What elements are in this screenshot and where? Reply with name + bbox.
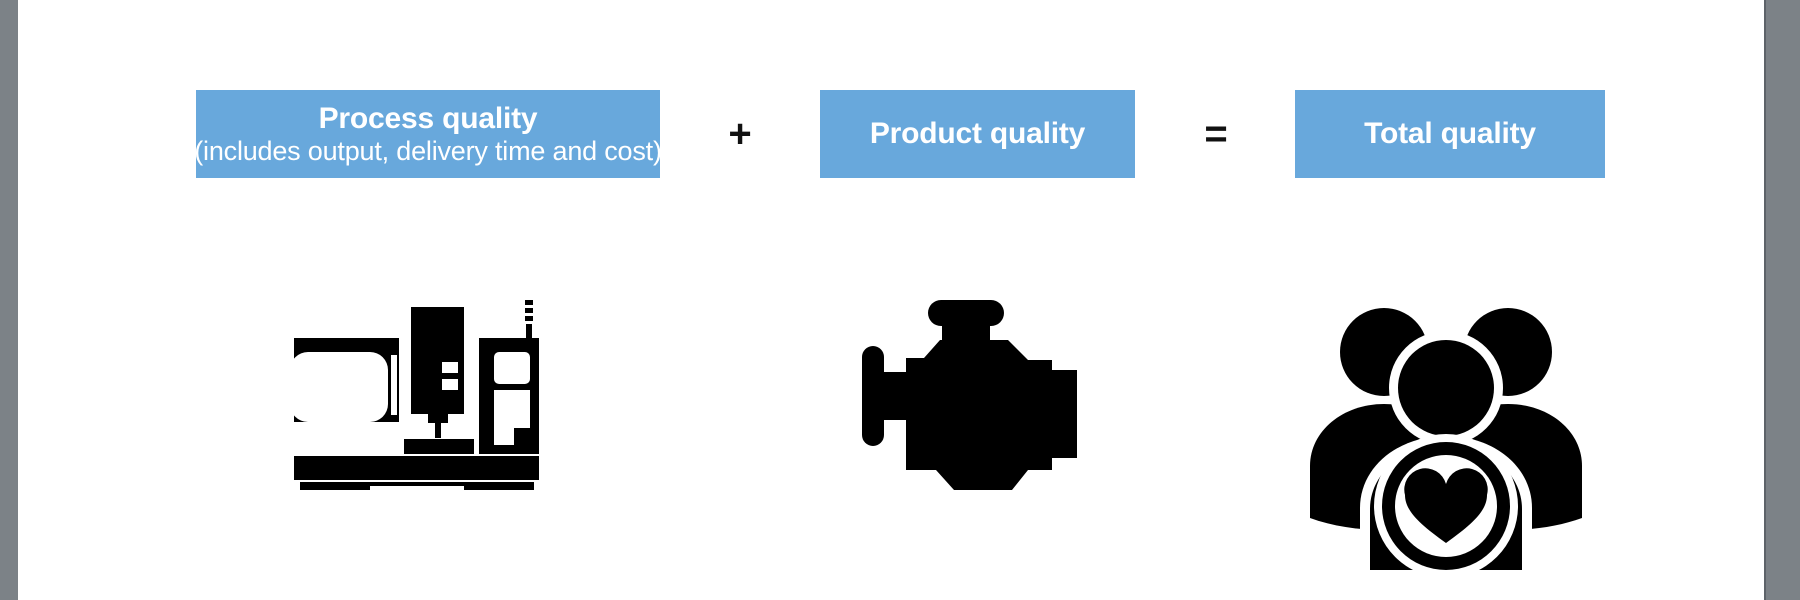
people-heart-icon [1310, 300, 1582, 570]
term-label-process-quality: Process quality [319, 102, 538, 136]
plus-operator-icon: + [716, 112, 764, 156]
term-box-process-quality[interactable]: Process quality (includes output, delive… [196, 90, 660, 178]
term-box-product-quality[interactable]: Product quality [820, 90, 1135, 178]
diagram-stage: Process quality (includes output, delive… [0, 0, 1800, 600]
term-box-total-quality[interactable]: Total quality [1295, 90, 1605, 178]
term-sublabel-process-quality: (includes output, delivery time and cost… [194, 136, 662, 166]
term-label-total-quality: Total quality [1364, 117, 1536, 151]
slide-canvas: Process quality (includes output, delive… [0, 0, 1800, 600]
engine-icon [862, 300, 1090, 492]
term-label-product-quality: Product quality [870, 117, 1085, 151]
cnc-machine-icon [294, 300, 548, 490]
equals-operator-icon: = [1192, 112, 1240, 156]
